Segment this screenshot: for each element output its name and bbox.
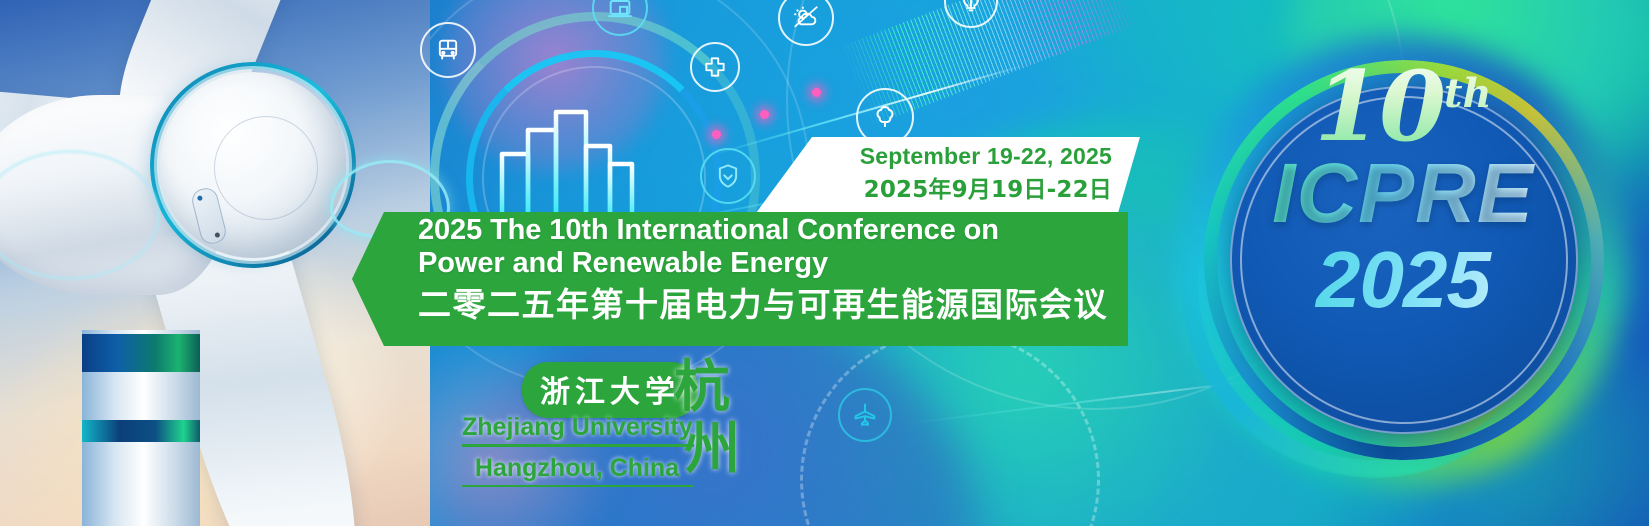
title-english-line2: Power and Renewable Energy <box>418 247 1108 280</box>
emblem-acronym: ICPRE <box>1168 150 1638 236</box>
city-char-hang: 杭 <box>674 356 740 418</box>
emblem-ordinal: 10th <box>1168 44 1638 157</box>
title-chinese: 二零二五年第十届电力与可再生能源国际会议 <box>418 285 1108 325</box>
university-english-name: Zhejiang University <box>462 412 692 442</box>
emblem-year: 2025 <box>1168 238 1638 322</box>
shield-check-icon <box>700 148 756 204</box>
decor-glow-dot <box>812 88 821 97</box>
university-chinese-name: 浙江大学 <box>522 362 698 418</box>
title-english-line1: 2025 The 10th International Conference o… <box>418 214 1108 247</box>
university-english-block: Zhejiang University Hangzhou, China <box>462 412 692 487</box>
icpre-emblem: 10th ICPRE 2025 <box>1168 30 1638 500</box>
turbine-tower-band <box>82 334 200 372</box>
date-english: September 19-22, 2025 <box>812 139 1112 173</box>
university-location: Hangzhou, China <box>462 453 692 483</box>
turbine-hub-inner-circle <box>214 116 318 220</box>
conference-title-block: 2025 The 10th International Conference o… <box>418 214 1108 325</box>
date-panel: September 19-22, 2025 2025年9月19日-22日 <box>812 139 1112 207</box>
decor-glow-dot <box>760 110 769 119</box>
university-divider-rule <box>462 444 694 447</box>
bus-icon <box>420 22 476 78</box>
date-chinese: 2025年9月19日-22日 <box>812 173 1112 207</box>
conference-banner: September 19-22, 2025 2025年9月19日-22日 202… <box>0 0 1649 526</box>
medical-cross-icon <box>690 42 740 92</box>
emblem-ordinal-suffix: th <box>1444 70 1492 117</box>
university-divider-rule <box>462 485 694 488</box>
airplane-icon <box>838 388 892 442</box>
turbine-tower-band <box>82 420 200 442</box>
decor-glow-dot <box>712 130 721 139</box>
